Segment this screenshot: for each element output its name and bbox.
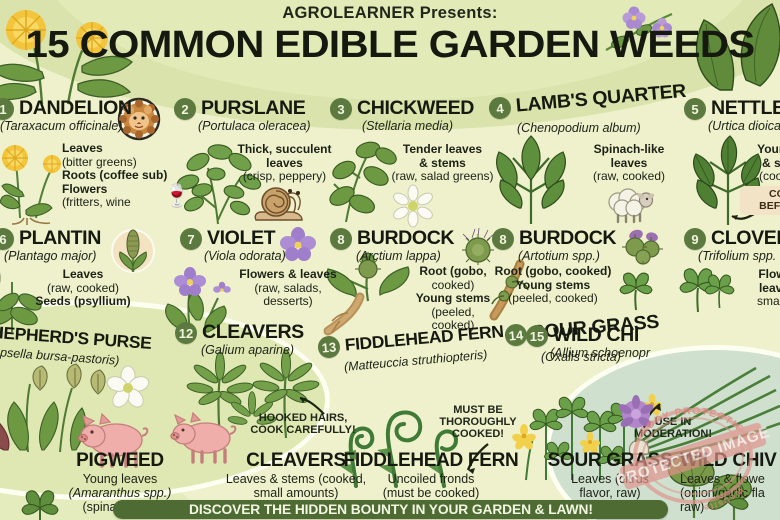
bottom-label-name: SOUR GRASS <box>520 450 700 472</box>
page-title: 15 COMMON EDIBLE GARDEN WEEDS <box>0 24 780 66</box>
use-line: Young stems <box>416 291 490 305</box>
note-line: COOKED! <box>426 428 530 440</box>
note-line: MODERATION! <box>628 428 718 440</box>
entry-header: 6 PLANTIN <box>0 228 99 250</box>
clover-icon <box>676 262 740 314</box>
entry-common-name: LAMB'S QUARTER <box>515 81 687 118</box>
entry-latin-name: (Trifolium spp. <box>698 249 780 263</box>
burr-cluster-icon <box>620 228 666 264</box>
entry-header: 8 BURDOCK <box>492 228 613 250</box>
desc-line: (onion/garlic fla <box>680 486 780 500</box>
use-line: leaves <box>611 156 648 170</box>
bottom-label-fiddlehead: FIDDLEHEAD FERN Uncoiled fronds (must be… <box>316 450 546 500</box>
entry-common-name: PLANTIN <box>19 228 101 250</box>
use-line: Thick, succulent <box>237 142 331 156</box>
use-line: (bitter greens) <box>62 156 192 170</box>
entry-clover[interactable]: 9 CLOVER (Trifolium spp. <box>684 228 780 263</box>
note-line: HOOKED HAIRS, <box>248 412 358 424</box>
entry-burdock-1[interactable]: 8 BURDOCK (Arctium lappa) <box>330 228 451 263</box>
desc-line: Uncoiled fronds <box>316 472 546 486</box>
note-line: COOK CAREFULLY! <box>248 424 358 436</box>
use-line: leaves ( <box>759 281 780 295</box>
desc-line: Leaves (citrus <box>520 472 700 486</box>
entry-header: 9 CLOVER <box>684 228 780 250</box>
entry-common-name: VIOLET <box>207 228 275 250</box>
use-line: (peeled, cooked) <box>482 292 624 306</box>
entry-common-name: WILD CHI <box>553 325 639 347</box>
entry-header: 3 CHICKWEED <box>330 98 471 120</box>
header: AGROLEARNER Presents: 15 COMMON EDIBLE G… <box>0 4 780 66</box>
entry-latin-name: (Viola odorata) <box>204 249 286 263</box>
use-line: (crisp, peppery) <box>222 170 347 184</box>
hooked-hairs-note: HOOKED HAIRS, COOK CAREFULLY! <box>248 412 358 436</box>
entry-header: 8 BURDOCK <box>330 228 451 250</box>
bottom-label-desc: Leaves (citrus flavor, raw) <box>520 472 700 500</box>
entry-plantain-uses: Leaves (raw, cooked) Seeds (psyllium) <box>28 268 138 309</box>
use-line: small am <box>736 295 780 309</box>
entry-lambs-quarter-uses: Spinach-like leaves (raw, cooked) <box>570 143 688 184</box>
desc-line: flavor, raw) <box>520 486 700 500</box>
use-line: Leaves <box>62 141 103 155</box>
use-line: (peeled, <box>398 306 508 320</box>
snail-icon <box>250 186 312 226</box>
callout-line: BEFORE <box>746 201 780 213</box>
entry-common-name: CLEAVERS <box>202 322 304 344</box>
entry-burdock-2-uses: Root (gobo, cooked) Young stems (peeled,… <box>482 265 624 306</box>
desc-line: (must be cooked) <box>316 486 546 500</box>
use-line: (raw, salad greens) <box>375 170 510 184</box>
entry-number-badge: 8 <box>492 228 514 250</box>
entry-header: 2 PURSLANE <box>174 98 311 120</box>
entry-chickweed-uses: Tender leaves & stems (raw, salad greens… <box>375 143 510 184</box>
entry-latin-name: (Stellaria media) <box>362 119 471 133</box>
entry-number-badge: 14 <box>504 323 528 347</box>
entry-latin-name: (Plantago major) <box>4 249 99 263</box>
entry-latin-name: (Portulaca oleracea) <box>198 119 311 133</box>
entry-number-badge: 13 <box>317 335 341 359</box>
entry-number-badge: 5 <box>684 98 706 120</box>
entry-fiddlehead-fern[interactable]: 13 FIDDLEHEAD FERN (Matteuccia struthiop… <box>318 337 500 374</box>
entry-header: 7 VIOLET <box>180 228 286 250</box>
use-line: (raw, cooked) <box>28 282 138 296</box>
nettle-warning-callout: COO BEFORE <box>740 186 780 215</box>
entry-latin-name: (Chenopodium album) <box>517 121 682 135</box>
entry-burdock-2[interactable]: 8 BURDOCK (Artotium spp.) <box>492 228 613 263</box>
entry-common-name: CHICKWEED <box>357 98 474 120</box>
use-line: Tender leaves <box>403 142 482 156</box>
entry-latin-name: (Arctium lappa) <box>356 249 451 263</box>
use-line: leaves <box>266 156 303 170</box>
entry-latin-name: (Allium schoenopr <box>550 346 650 360</box>
use-line: Flowers <box>62 182 107 196</box>
entry-header: 12 CLEAVERS <box>175 322 301 344</box>
entry-common-name: PURSLANE <box>201 98 305 120</box>
entry-nettle-uses: Young le & stem (cooked, <box>742 143 780 184</box>
use-line: desserts) <box>218 295 358 309</box>
use-line: (raw, cooked) <box>570 170 688 184</box>
presenter-line: AGROLEARNER Presents: <box>0 4 780 23</box>
entry-number-badge: 6 <box>0 228 14 250</box>
entry-latin-name: (Taraxacum officinale) <box>0 119 128 133</box>
entry-header: 5 NETTLE <box>684 98 780 120</box>
use-line: Roots (coffee sub) <box>62 168 167 182</box>
moderation-note: USE IN MODERATION! <box>628 416 718 440</box>
desc-line: raw) <box>680 500 780 514</box>
use-line: Flowers <box>758 267 780 281</box>
entry-plantain[interactable]: 6 PLANTIN (Plantago major) <box>0 228 99 263</box>
entry-chickweed[interactable]: 3 CHICKWEED (Stellaria media) <box>330 98 471 133</box>
bottom-label-wild-chives: WILD CHIV Leaves & flowe (onion/garlic f… <box>680 450 780 514</box>
entry-common-name: BURDOCK <box>357 228 454 250</box>
entry-violet[interactable]: 7 VIOLET (Viola odorata) <box>180 228 286 263</box>
entry-header: 1 DANDELION <box>0 98 128 120</box>
entry-header: 4 LAMB'S QUARTER <box>488 81 682 120</box>
bottom-label-desc: Leaves & flowe (onion/garlic fla raw) <box>680 472 780 514</box>
use-line: (raw, salads, <box>218 282 358 296</box>
entry-shepherds-purse[interactable]: SHEPHERD'S PURSE (Capsella bursa-pastori… <box>0 322 147 358</box>
entry-cleavers[interactable]: 12 CLEAVERS (Galium aparine) <box>175 322 301 357</box>
desc-line: Leaves & flowe <box>680 472 780 486</box>
bottom-label-sour-grass: SOUR GRASS Leaves (citrus flavor, raw) <box>520 450 700 500</box>
thoroughly-cooked-note: MUST BE THOROUGHLY COOKED! <box>426 404 530 440</box>
entry-number-badge: 12 <box>175 322 197 344</box>
bottom-label-name: WILD CHIV <box>680 450 780 472</box>
use-line: Leaves <box>63 267 104 281</box>
entry-latin-name: (Urtica dioica) <box>708 119 780 133</box>
entry-number-badge: 1 <box>0 98 14 120</box>
use-line: Root (gobo, cooked) <box>495 264 612 278</box>
entry-violet-uses: Flowers & leaves (raw, salads, desserts) <box>218 268 358 309</box>
entry-number-badge: 9 <box>684 228 706 250</box>
bottom-label-desc: Uncoiled fronds (must be cooked) <box>316 472 546 500</box>
infographic-canvas: AGROLEARNER Presents: 15 COMMON EDIBLE G… <box>0 0 780 520</box>
entry-dandelion[interactable]: 1 DANDELION (Taraxacum officinale) <box>0 98 128 133</box>
entry-number-badge: 2 <box>174 98 196 120</box>
use-line: Young stems <box>516 278 590 292</box>
entry-purslane[interactable]: 2 PURSLANE (Portulaca oleracea) <box>174 98 311 133</box>
entry-number-badge: 8 <box>330 228 352 250</box>
dandelion-plant-illustration <box>0 140 70 225</box>
entry-number-badge: 3 <box>330 98 352 120</box>
entry-common-name: DANDELION <box>19 98 132 120</box>
note-line: THOROUGHLY <box>426 416 530 428</box>
use-line: Seeds (psyllium) <box>35 294 130 308</box>
callout-line: COO <box>746 189 780 201</box>
use-line: & stems <box>419 156 466 170</box>
entry-purslane-uses: Thick, succulent leaves (crisp, peppery) <box>222 143 347 184</box>
use-line: Flowers & leaves <box>239 267 336 281</box>
entry-number-badge: 7 <box>180 228 202 250</box>
entry-common-name: NETTLE <box>711 98 780 120</box>
shepherds-purse-illustration <box>0 358 160 453</box>
use-line: Young le <box>757 142 780 156</box>
entry-header: 15 WILD CHI <box>526 325 650 347</box>
entry-common-name: BURDOCK <box>519 228 616 250</box>
note-line: MUST BE <box>426 404 530 416</box>
use-line: Root (gobo, <box>419 264 486 278</box>
use-line: & stem <box>762 156 780 170</box>
wine-glass-icon: 🍷 <box>163 185 190 207</box>
entry-lambs-quarter[interactable]: 4 LAMB'S QUARTER (Chenopodium album) <box>489 98 682 135</box>
footer-banner: DISCOVER THE HIDDEN BOUNTY IN YOUR GARDE… <box>113 500 668 519</box>
entry-wild-chives[interactable]: 15 WILD CHI (Allium schoenopr <box>526 325 650 360</box>
entry-clover-uses: Flowers leaves ( small am <box>736 268 780 309</box>
sheep-icon <box>600 186 656 224</box>
use-line: Spinach-like <box>594 142 665 156</box>
entry-number-badge: 4 <box>488 96 512 120</box>
entry-latin-name: (Galium aparine) <box>201 343 301 357</box>
bottom-label-name: FIDDLEHEAD FERN <box>316 450 546 472</box>
white-flower-icon <box>392 187 434 225</box>
note-line: USE IN <box>628 416 718 428</box>
entry-number-badge: 15 <box>526 325 548 347</box>
entry-latin-name: (Artotium spp.) <box>518 249 613 263</box>
entry-nettle[interactable]: 5 NETTLE (Urtica dioica) <box>684 98 780 133</box>
entry-common-name: CLOVER <box>711 228 780 250</box>
footer-banner-text: DISCOVER THE HIDDEN BOUNTY IN YOUR GARDE… <box>189 502 593 517</box>
use-line: (cooked, <box>742 170 780 184</box>
